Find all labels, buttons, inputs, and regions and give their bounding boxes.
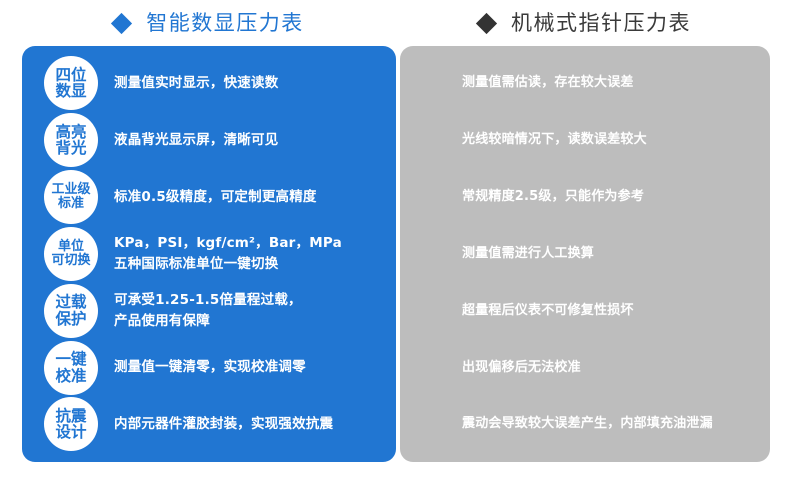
drawback-text: 震动会导致较大误差产生，内部填充油泄漏 [462,414,713,434]
feature-badge-line: 保护 [55,311,86,328]
feature-row: 过载保护可承受1.25-1.5倍量程过载，产品使用有保障 [22,284,396,338]
drawback-text: 常规精度2.5级，只能作为参考 [462,187,644,207]
feature-badge: 抗震设计 [44,397,98,451]
feature-text-line: 五种国际标准单位一键切换 [114,254,342,275]
feature-badge: 高亮背光 [44,113,98,167]
feature-row: 单位可切换KPa，PSI，kgf/cm²，Bar，MPa五种国际标准单位一键切换 [22,227,396,281]
feature-badge-line: 单位 [58,240,84,254]
drawback-text: 超量程后仪表不可修复性损坏 [462,301,634,321]
feature-text: 测量值实时显示，快速读数 [114,73,278,94]
feature-text-line: 内部元器件灌胶封装，实现强效抗震 [114,414,333,435]
feature-text: 液晶背光显示屏，清晰可见 [114,130,278,151]
panel-digital-features: 四位数显测量值实时显示，快速读数高亮背光液晶背光显示屏，清晰可见工业级标准标准0… [22,46,396,462]
feature-row: 高亮背光液晶背光显示屏，清晰可见 [22,113,396,167]
feature-row: 一键校准测量值一键清零，实现校准调零 [22,341,396,395]
feature-badge-line: 工业级 [51,183,90,197]
drawback-text: 光线较暗情况下，读数误差较大 [462,130,647,150]
diamond-marker-dark-icon [476,13,497,34]
feature-badge-line: 一键 [55,351,86,368]
drawback-text: 测量值需进行人工换算 [462,244,594,264]
feature-badge-line: 四位 [55,67,86,84]
header-left: 智能数显压力表 [22,4,396,42]
feature-text: 可承受1.25-1.5倍量程过载，产品使用有保障 [114,290,302,332]
feature-text-line: 可承受1.25-1.5倍量程过载， [114,290,302,311]
drawback-row: 超量程后仪表不可修复性损坏 [400,287,770,335]
feature-badge-line: 校准 [55,368,86,385]
feature-text-line: 标准0.5级精度，可定制更高精度 [114,187,317,208]
feature-badge-line: 过载 [55,294,86,311]
feature-badge-line: 标准 [58,197,84,211]
feature-badge: 过载保护 [44,284,98,338]
feature-text-line: 液晶背光显示屏，清晰可见 [114,130,278,151]
feature-row: 四位数显测量值实时显示，快速读数 [22,56,396,110]
drawback-row: 出现偏移后无法校准 [400,344,770,392]
feature-row-list: 四位数显测量值实时显示，快速读数高亮背光液晶背光显示屏，清晰可见工业级标准标准0… [22,55,396,453]
feature-badge-line: 设计 [55,424,86,441]
feature-text: KPa，PSI，kgf/cm²，Bar，MPa五种国际标准单位一键切换 [114,233,342,275]
feature-badge: 单位可切换 [44,227,98,281]
feature-text-line: KPa，PSI，kgf/cm²，Bar，MPa [114,233,342,254]
header-right: 机械式指针压力表 [400,4,770,42]
feature-text: 标准0.5级精度，可定制更高精度 [114,187,317,208]
feature-text-line: 测量值实时显示，快速读数 [114,73,278,94]
drawback-text: 测量值需估读，存在较大误差 [462,73,634,93]
feature-badge: 工业级标准 [44,170,98,224]
feature-row: 工业级标准标准0.5级精度，可定制更高精度 [22,170,396,224]
drawback-row: 常规精度2.5级，只能作为参考 [400,173,770,221]
drawback-row: 光线较暗情况下，读数误差较大 [400,116,770,164]
drawback-row: 震动会导致较大误差产生，内部填充油泄漏 [400,400,770,448]
comparison-page: 智能数显压力表 机械式指针压力表 四位数显测量值实时显示，快速读数高亮背光液晶背… [0,0,790,482]
header-right-title: 机械式指针压力表 [511,13,691,34]
feature-text: 内部元器件灌胶封装，实现强效抗震 [114,414,333,435]
drawback-row-list: 测量值需估读，存在较大误差光线较暗情况下，读数误差较大常规精度2.5级，只能作为… [400,55,770,453]
feature-badge: 一键校准 [44,341,98,395]
feature-text: 测量值一键清零，实现校准调零 [114,357,306,378]
feature-badge-line: 可切换 [51,254,90,268]
drawback-row: 测量值需估读，存在较大误差 [400,59,770,107]
feature-badge: 四位数显 [44,56,98,110]
feature-badge-line: 抗震 [55,408,86,425]
feature-text-line: 测量值一键清零，实现校准调零 [114,357,306,378]
feature-badge-line: 背光 [55,140,86,157]
feature-badge-line: 高亮 [55,124,86,141]
diamond-marker-blue-icon [111,13,132,34]
feature-badge-line: 数显 [55,83,86,100]
feature-text-line: 产品使用有保障 [114,311,302,332]
panel-mechanical-drawbacks: 测量值需估读，存在较大误差光线较暗情况下，读数误差较大常规精度2.5级，只能作为… [400,46,770,462]
drawback-row: 测量值需进行人工换算 [400,230,770,278]
feature-row: 抗震设计内部元器件灌胶封装，实现强效抗震 [22,397,396,451]
header-left-title: 智能数显压力表 [146,13,304,34]
drawback-text: 出现偏移后无法校准 [462,358,581,378]
